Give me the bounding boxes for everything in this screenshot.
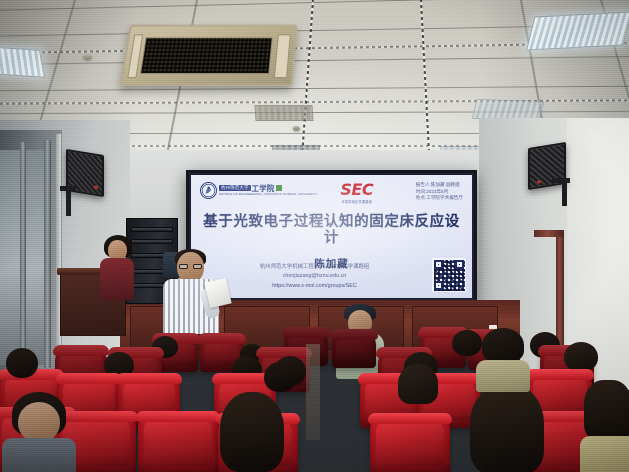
chair-backrest xyxy=(138,414,218,472)
logo-green-block xyxy=(276,185,282,191)
chair-top-rail xyxy=(198,333,246,344)
speaker-led xyxy=(537,180,541,184)
chair[interactable] xyxy=(332,332,376,368)
chair-top-rail xyxy=(53,345,109,356)
audience-head xyxy=(264,362,296,392)
attendee-hair xyxy=(220,392,284,472)
projected-slide: 杭州师范大学 工学院 SCHOOL OF ENGINEERING, HANGZH… xyxy=(191,175,472,298)
audience-head xyxy=(398,364,438,404)
slide-contact-block: 杭州师范大学机械工程系 半导体电化学课题组 chenjiazang@hznu.e… xyxy=(191,263,472,291)
university-logo: 杭州师范大学 工学院 SCHOOL OF ENGINEERING, HANGZH… xyxy=(200,182,317,199)
chair[interactable] xyxy=(138,414,218,472)
chair[interactable] xyxy=(370,416,450,472)
slide-meta-line: 报告人:陈加藏 副教授 xyxy=(416,182,463,189)
window-mullion xyxy=(44,140,51,368)
attendee-hair xyxy=(584,380,629,440)
slide-title: 基于光致电子过程认知的固定床反应设计 xyxy=(200,215,463,247)
foreground-attendee-right xyxy=(468,388,554,472)
air-conditioner-vent xyxy=(274,34,291,78)
attendee-torso xyxy=(580,436,629,472)
speaker-mount-bracket xyxy=(60,186,76,191)
research-group-logo: SEC 半导体电化学课题组 xyxy=(340,182,373,204)
chair-top-rail xyxy=(282,327,330,338)
qr-finder-icon xyxy=(434,260,443,269)
attendee-torso xyxy=(476,360,530,392)
university-name-cn: 杭州师范大学 xyxy=(219,185,251,192)
podium-person-torso xyxy=(100,258,134,300)
slide-content: 杭州师范大学 工学院 SCHOOL OF ENGINEERING, HANGZH… xyxy=(191,175,472,298)
slide-meta-line: 地点:工学院学术报告厅 xyxy=(416,195,463,202)
audience-head xyxy=(564,342,598,372)
ceiling-light-panel xyxy=(526,12,629,51)
lecture-hall-photo: 杭州师范大学 工学院 SCHOOL OF ENGINEERING, HANGZH… xyxy=(0,0,629,472)
window-mullion xyxy=(20,142,26,367)
university-wordmark: 杭州师范大学 工学院 SCHOOL OF ENGINEERING, HANGZH… xyxy=(219,185,317,197)
attendee-hair xyxy=(470,384,544,472)
smoke-detector xyxy=(83,54,92,60)
rack-slot xyxy=(131,227,173,232)
university-seal-icon xyxy=(200,182,217,199)
slide-header: 杭州师范大学 工学院 SCHOOL OF ENGINEERING, HANGZH… xyxy=(200,182,463,204)
chair-top-rail xyxy=(526,369,594,380)
contact-affiliation: 杭州师范大学机械工程系 半导体电化学课题组 xyxy=(191,263,438,272)
university-wordmark-top: 杭州师范大学 工学院 xyxy=(219,185,317,192)
qr-code[interactable] xyxy=(432,258,466,292)
glasses-icon xyxy=(179,264,202,269)
audience-head xyxy=(6,348,38,378)
ceiling-light-panel xyxy=(0,46,45,78)
air-conditioner-grille xyxy=(140,37,273,74)
chair-top-rail xyxy=(330,329,378,340)
foreground-attendee-left xyxy=(8,396,74,472)
group-subtitle: 半导体电化学课题组 xyxy=(341,199,372,204)
chair-top-rail xyxy=(116,373,182,384)
slide-meta-block: 报告人:陈加藏 副教授 时间:2023年6月 地点:工学院学术报告厅 xyxy=(416,182,463,202)
group-mark-sec: SEC xyxy=(340,182,373,198)
qr-finder-icon xyxy=(434,281,443,290)
speaker-mount-bracket xyxy=(552,178,570,183)
attendee-hair xyxy=(482,328,524,362)
speaker-mount-arm xyxy=(66,190,71,216)
foreground-attendee-far-right xyxy=(584,380,629,472)
chair-backrest xyxy=(370,416,450,472)
contact-email: chenjiazang@hznu.edu.cn xyxy=(191,272,438,281)
air-conditioner-unit xyxy=(120,25,298,86)
speaker-mount-arm xyxy=(562,182,567,206)
attendee-head xyxy=(18,402,60,442)
speaker-led xyxy=(94,185,98,189)
smoke-detector xyxy=(293,126,300,131)
qr-finder-icon xyxy=(455,260,464,269)
chair-top-rail xyxy=(136,411,220,422)
chair-top-rail xyxy=(56,373,122,384)
midground-attendee-right xyxy=(478,330,530,390)
university-name-en: SCHOOL OF ENGINEERING, HANGZHOU NORMAL U… xyxy=(219,192,317,196)
attendee-torso xyxy=(2,438,76,472)
center-aisle xyxy=(306,344,320,440)
ceiling-light-panel xyxy=(254,105,313,121)
person-at-podium xyxy=(98,240,138,302)
university-college-cn: 工学院 xyxy=(252,185,275,192)
chair-top-rail xyxy=(368,413,452,424)
door-header-right xyxy=(534,230,564,237)
projection-screen[interactable]: 杭州师范大学 工学院 SCHOOL OF ENGINEERING, HANGZH… xyxy=(186,170,477,303)
window-glass xyxy=(26,150,46,365)
window-glass xyxy=(0,150,22,365)
foreground-attendee-center xyxy=(214,398,294,472)
